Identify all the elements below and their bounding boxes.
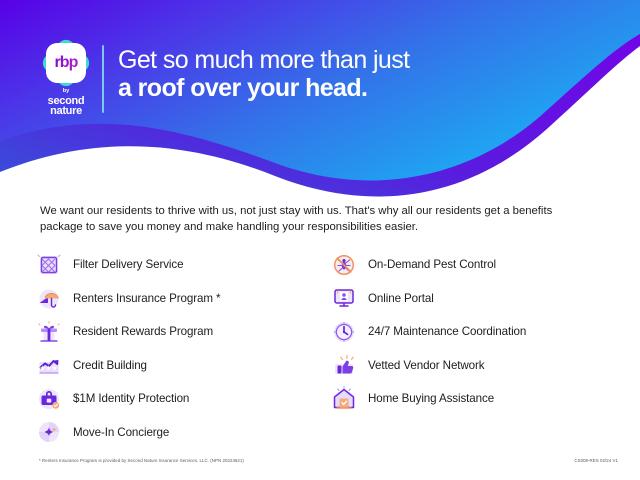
gift-box-icon: [36, 319, 62, 345]
headline-line1: Get so much more than just: [118, 46, 578, 74]
page-title: Get so much more than just a roof over y…: [118, 46, 578, 102]
benefit-label: Resident Rewards Program: [73, 325, 213, 338]
briefcase-lock-icon: [36, 386, 62, 412]
benefit-label: Online Portal: [368, 292, 434, 305]
rbp-logo: rbp by second nature: [33, 38, 99, 116]
no-pest-icon: [331, 252, 357, 278]
logo-name-line2: nature: [48, 106, 85, 116]
clock-icon: [331, 319, 357, 345]
umbrella-shield-icon: [36, 285, 62, 311]
benefit-item-maintenance-coordination: 24/7 Maintenance Coordination: [331, 315, 616, 349]
monitor-portal-icon: [331, 285, 357, 311]
benefit-label: Home Buying Assistance: [368, 392, 494, 405]
benefit-label: Credit Building: [73, 359, 147, 372]
benefit-label: Renters Insurance Program *: [73, 292, 220, 305]
footnote-disclaimer: * Renters Insurance Program is provided …: [39, 458, 244, 463]
benefit-label: Filter Delivery Service: [73, 258, 183, 271]
vertical-divider: [102, 45, 104, 113]
hero-banner: rbp by second nature Get so much more th…: [0, 0, 640, 200]
headline-line2: a roof over your head.: [118, 74, 578, 102]
benefit-label: Vetted Vendor Network: [368, 359, 485, 372]
house-key-icon: [331, 386, 357, 412]
benefit-item-home-buying-assistance: Home Buying Assistance: [331, 382, 616, 416]
benefit-item-vetted-vendor-network: Vetted Vendor Network: [331, 349, 616, 383]
benefit-label: On-Demand Pest Control: [368, 258, 496, 271]
thumbs-up-icon: [331, 352, 357, 378]
rbp-logo-text: rbp: [54, 54, 77, 72]
credit-chart-icon: [36, 352, 62, 378]
intro-paragraph: We want our residents to thrive with us,…: [40, 203, 588, 235]
benefits-column-left: Filter Delivery Service Renters Insuranc…: [36, 248, 331, 449]
benefit-item-resident-rewards-program: Resident Rewards Program: [36, 315, 331, 349]
benefit-item-identity-protection: $1M Identity Protection: [36, 382, 331, 416]
benefit-item-move-in-concierge: Move-In Concierge: [36, 416, 331, 450]
benefit-item-credit-building: Credit Building: [36, 349, 331, 383]
benefits-column-right: On-Demand Pest Control Online Portal: [331, 248, 616, 449]
benefit-label: Move-In Concierge: [73, 426, 169, 439]
benefit-label: $1M Identity Protection: [73, 392, 189, 405]
benefit-label: 24/7 Maintenance Coordination: [368, 325, 526, 338]
air-filter-icon: [36, 252, 62, 278]
benefits-list: Filter Delivery Service Renters Insuranc…: [36, 248, 616, 449]
rbp-logo-mark: rbp: [37, 38, 95, 78]
benefit-item-filter-delivery-service: Filter Delivery Service: [36, 248, 331, 282]
benefit-item-online-portal: Online Portal: [331, 282, 616, 316]
document-code: CS008-RES 02/24 V1: [574, 458, 618, 463]
compass-star-icon: [36, 419, 62, 445]
benefit-item-pest-control: On-Demand Pest Control: [331, 248, 616, 282]
benefit-item-renters-insurance-program: Renters Insurance Program *: [36, 282, 331, 316]
